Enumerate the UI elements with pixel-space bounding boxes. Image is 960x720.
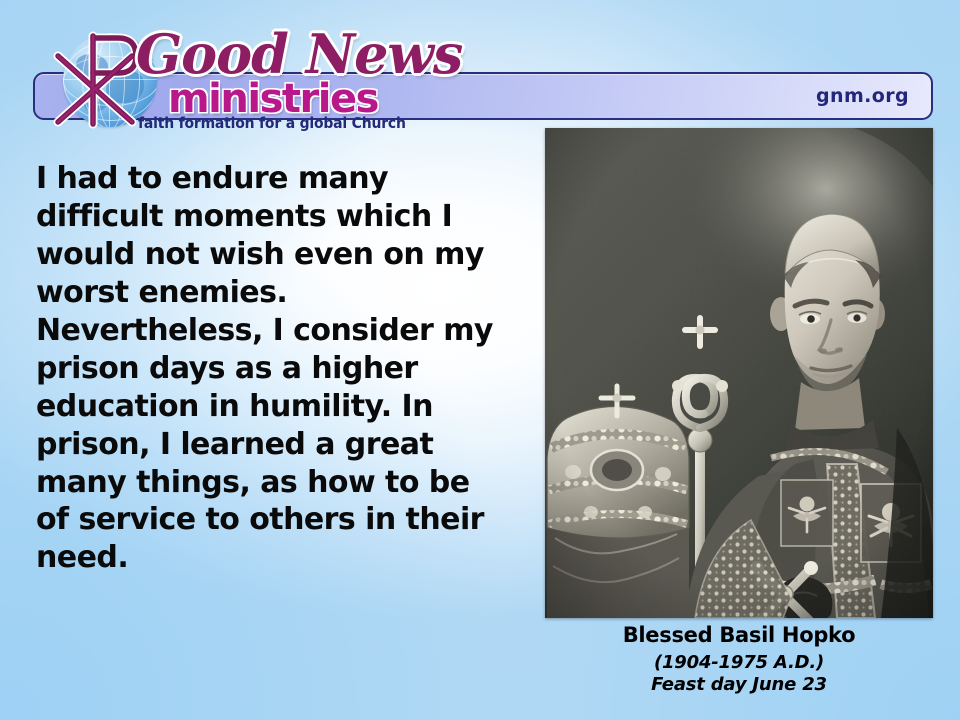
quote-line: of service to others in their (36, 501, 516, 539)
site-header: gnm.org (0, 0, 960, 142)
saint-name: Blessed Basil Hopko (545, 622, 933, 648)
quote-line: Nevertheless, I consider my (36, 312, 516, 350)
quote-line: would not wish even on my (36, 236, 516, 274)
quote-line: prison days as a higher (36, 350, 516, 388)
quote-line: education in humility. In (36, 388, 516, 426)
quote-line: many things, as how to be (36, 464, 516, 502)
quote-line: prison, I learned a great (36, 426, 516, 464)
portrait-photo (545, 128, 933, 618)
devotional-slide: gnm.org (0, 0, 960, 720)
quote-text: I had to endure many difficult moments w… (36, 160, 516, 577)
quote-line: need. (36, 539, 516, 577)
saint-life-dates: (1904-1975 A.D.) (545, 652, 933, 674)
quote-line: I had to endure many (36, 160, 516, 198)
quote-line: difficult moments which I (36, 198, 516, 236)
site-url-label[interactable]: gnm.org (816, 85, 909, 107)
portrait-caption: Blessed Basil Hopko (1904-1975 A.D.) Fea… (545, 622, 933, 695)
saint-feast-day: Feast day June 23 (545, 674, 933, 696)
portrait-image (545, 128, 933, 618)
brand-tagline: faith formation for a global Church (138, 114, 406, 132)
quote-line: worst enemies. (36, 274, 516, 312)
